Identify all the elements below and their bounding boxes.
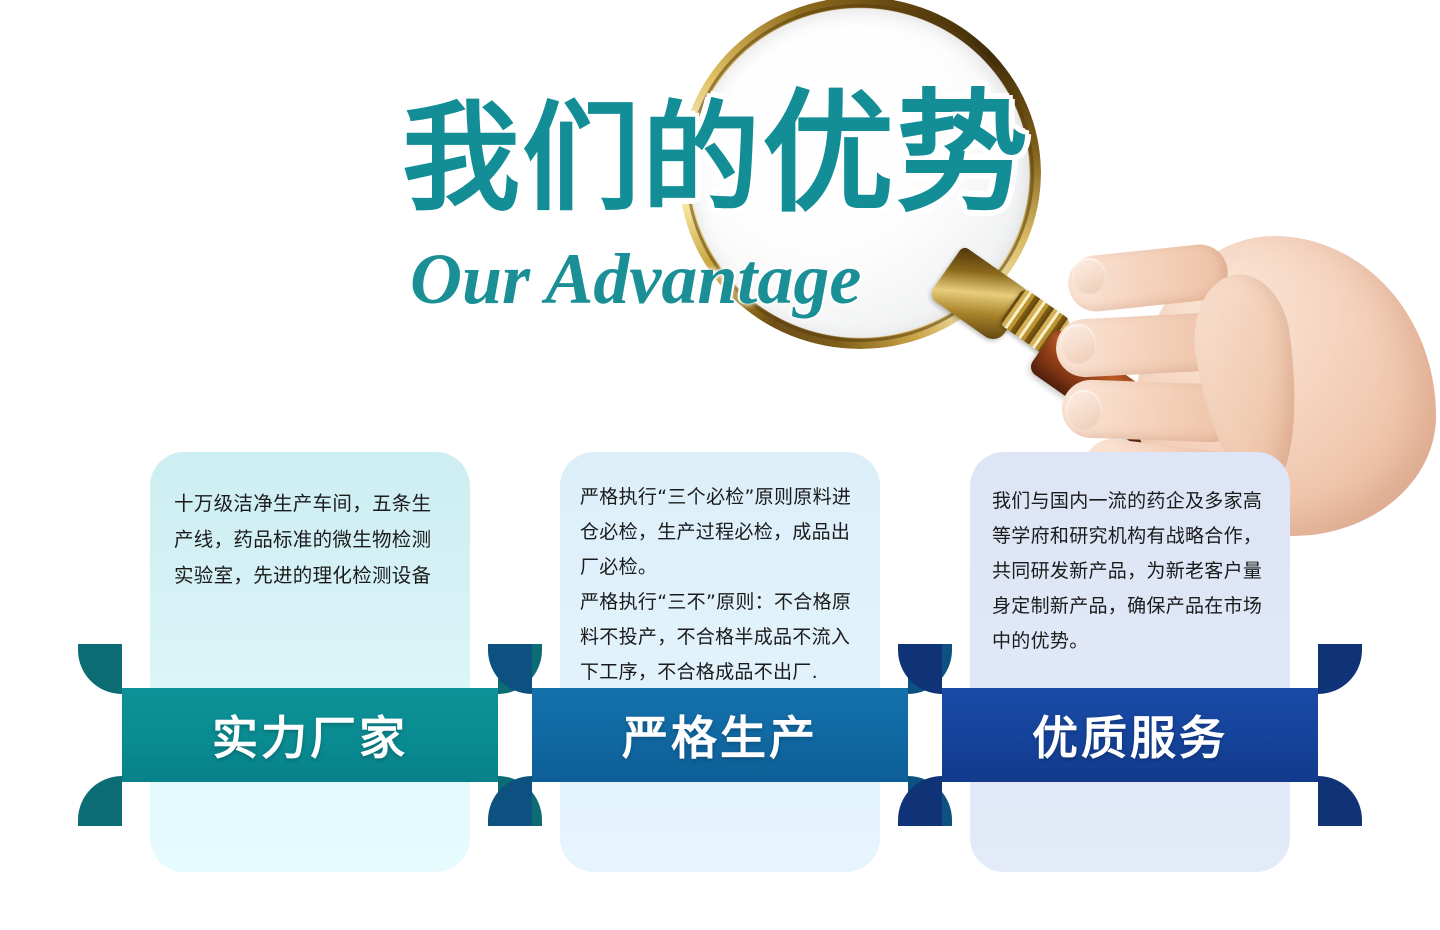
ribbon-2-fold-bottom-left [488, 776, 532, 826]
ribbon-3-label: 优质服务 [942, 688, 1318, 782]
ribbon-3-fold-top-left [898, 644, 942, 694]
page-title-chinese-prefix: 我们的 [402, 89, 762, 227]
ribbon-2-label: 严格生产 [532, 688, 908, 782]
ribbon-1-fold-top-left [78, 644, 122, 694]
hand-nail-index [1072, 258, 1106, 294]
page-title-chinese: 我们的优势 [402, 88, 1030, 220]
ribbon-banner-1: 实力厂家 [122, 688, 498, 782]
advantage-card-3: 我们与国内一流的药企及多家高等学府和研究机构有战略合作，共同研发新产品，为新老客… [970, 452, 1290, 872]
ribbon-2-fold-top-left [488, 644, 532, 694]
card-3-text: 我们与国内一流的药企及多家高等学府和研究机构有战略合作，共同研发新产品，为新老客… [992, 484, 1276, 659]
header-section: 我们的优势 Our Advantage [0, 0, 1440, 440]
advantage-banner: 我们的优势 Our Advantage 十万级洁净生产车间，五条生产线，药品标准… [0, 0, 1440, 930]
card-1-text: 十万级洁净生产车间，五条生产线，药品标准的微生物检测实验室，先进的理化检测设备 [174, 486, 446, 594]
ribbon-1-fold-bottom-left [78, 776, 122, 826]
page-title-english: Our Advantage [410, 238, 861, 321]
ribbon-banner-2: 严格生产 [532, 688, 908, 782]
advantage-card-2: 严格执行“三个必检”原则原料进仓必检，生产过程必检，成品出厂必检。 严格执行“三… [560, 452, 880, 872]
ribbon-3-fold-top-right [1318, 644, 1362, 694]
ribbon-1-label: 实力厂家 [122, 688, 498, 782]
page-title-chinese-accent: 优势 [762, 77, 1030, 231]
ribbon-banner-3: 优质服务 [942, 688, 1318, 782]
hand-nail-ring [1066, 390, 1102, 430]
hand-nail-middle [1060, 324, 1096, 364]
ribbon-3-fold-bottom-right [1318, 776, 1362, 826]
ribbon-3-fold-bottom-left [898, 776, 942, 826]
card-2-text: 严格执行“三个必检”原则原料进仓必检，生产过程必检，成品出厂必检。 严格执行“三… [580, 480, 868, 690]
advantage-cards: 十万级洁净生产车间，五条生产线，药品标准的微生物检测实验室，先进的理化检测设备 … [0, 452, 1440, 902]
advantage-card-1: 十万级洁净生产车间，五条生产线，药品标准的微生物检测实验室，先进的理化检测设备 [150, 452, 470, 872]
